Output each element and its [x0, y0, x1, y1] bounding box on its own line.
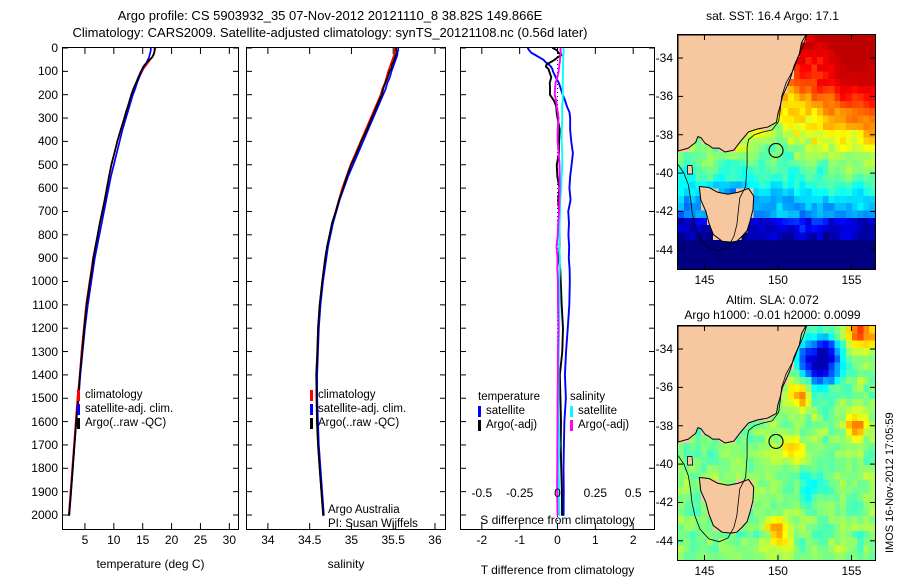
axis-tick-label: -34	[633, 51, 673, 65]
axis-tick-label: 1100	[18, 298, 58, 312]
axis-tick-label: 800	[18, 228, 58, 242]
legend-item-label: satellite	[578, 404, 617, 418]
temperature-legend: climatologysatellite-adj. clim.Argo(..ra…	[77, 388, 173, 430]
axis-tick-label: 5	[82, 533, 89, 547]
axis-tick-label: 25	[194, 533, 207, 547]
axis-tick-label: 15	[136, 533, 149, 547]
legend-item: satellite-adj. clim.	[77, 402, 173, 416]
sla-map-title-line2: Argo h1000: -0.01 h2000: 0.0099	[655, 308, 890, 323]
credit-line2: PI: Susan Wijffels	[328, 517, 418, 531]
sla-map-title-line1: Altim. SLA: 0.072	[660, 293, 885, 308]
legend-header: temperature	[478, 390, 540, 404]
legend-color-swatch	[77, 418, 80, 429]
axis-tick-label: -42	[633, 204, 673, 218]
legend-item-label: Argo(..raw -QC)	[85, 416, 166, 430]
axis-tick-label: -34	[633, 342, 673, 356]
axis-tick-label: 0	[18, 41, 58, 55]
axis-tick-label: -0.25	[506, 486, 533, 500]
legend-item-label: satellite-adj. clim.	[318, 402, 406, 416]
axis-tick-label: 600	[18, 181, 58, 195]
axis-tick-label: 1900	[18, 485, 58, 499]
axis-tick-label: 900	[18, 251, 58, 265]
salinity-plot-area	[247, 48, 445, 529]
axis-tick-label: -36	[633, 89, 673, 103]
credit-line1: Argo Australia	[328, 503, 400, 517]
legend-item: satellite-adj. clim.	[310, 402, 406, 416]
legend-header: salinity	[570, 390, 629, 404]
legend-color-swatch	[77, 390, 80, 401]
legend-item-label: satellite-adj. clim.	[85, 402, 173, 416]
legend-item-label: Argo(-adj)	[486, 418, 537, 432]
axis-tick-label: 35	[345, 533, 358, 547]
axis-tick-label: -44	[633, 534, 673, 548]
axis-tick-label: -0.5	[471, 486, 492, 500]
axis-tick-label: -36	[633, 380, 673, 394]
difference-salinity-legend: salinitysatelliteArgo(-adj)	[570, 390, 629, 432]
legend-color-swatch	[310, 404, 313, 415]
axis-tick-label: 1400	[18, 368, 58, 382]
axis-tick-label: 700	[18, 204, 58, 218]
axis-tick-label: 0	[554, 533, 561, 547]
legend-item: satellite	[478, 404, 540, 418]
legend-item: Argo(..raw -QC)	[310, 416, 406, 430]
temperature-difference-axis-label: T difference from climatology	[455, 563, 660, 577]
axis-tick-label: 0	[554, 486, 561, 500]
difference-profile-panel	[460, 47, 655, 530]
axis-tick-label: 20	[165, 533, 178, 547]
axis-tick-label: 2000	[18, 508, 58, 522]
legend-color-swatch	[77, 404, 80, 415]
axis-tick-label: -1	[514, 533, 525, 547]
legend-item: climatology	[77, 388, 173, 402]
axis-tick-label: 100	[18, 64, 58, 78]
axis-tick-label: 1700	[18, 438, 58, 452]
axis-tick-label: -42	[633, 495, 673, 509]
sst-map-image	[678, 35, 875, 269]
axis-tick-label: 150	[768, 273, 788, 287]
axis-tick-label: 1	[592, 533, 599, 547]
difference-temperature-legend: temperaturesatelliteArgo(-adj)	[478, 390, 540, 432]
axis-tick-label: 145	[694, 273, 714, 287]
axis-tick-label: 35.5	[382, 533, 405, 547]
axis-tick-label: 155	[841, 564, 861, 578]
axis-tick-label: 1200	[18, 321, 58, 335]
legend-color-swatch	[310, 418, 313, 429]
axis-tick-label: -38	[633, 128, 673, 142]
axis-tick-label: -38	[633, 419, 673, 433]
axis-tick-label: 1600	[18, 415, 58, 429]
page-title-line1: Argo profile: CS 5903932_35 07-Nov-2012 …	[0, 8, 660, 24]
legend-item-label: climatology	[318, 388, 376, 402]
axis-tick-label: 10	[107, 533, 120, 547]
axis-tick-label: 155	[841, 273, 861, 287]
axis-tick-label: 500	[18, 158, 58, 172]
page-title-line2: Climatology: CARS2009. Satellite-adjuste…	[0, 25, 660, 41]
salinity-difference-axis-label: S difference from climatology	[455, 513, 660, 527]
legend-item-label: climatology	[85, 388, 143, 402]
axis-tick-label: 150	[768, 564, 788, 578]
legend-item: Argo(..raw -QC)	[77, 416, 173, 430]
sla-map-image	[678, 326, 875, 560]
temperature-profile-panel	[62, 47, 239, 530]
legend-item-label: Argo(..raw -QC)	[318, 416, 399, 430]
axis-tick-label: 34	[261, 533, 274, 547]
salinity-profile-panel	[246, 47, 446, 530]
axis-tick-label: 200	[18, 88, 58, 102]
temperature-plot-area	[63, 48, 238, 529]
legend-item: Argo(-adj)	[570, 418, 629, 432]
legend-color-swatch	[478, 406, 481, 417]
legend-color-swatch	[310, 390, 313, 401]
axis-tick-label: -44	[633, 243, 673, 257]
legend-item-label: Argo(-adj)	[578, 418, 629, 432]
axis-tick-label: 1000	[18, 274, 58, 288]
axis-tick-label: 36	[428, 533, 441, 547]
axis-tick-label: 1300	[18, 345, 58, 359]
axis-tick-label: 1800	[18, 461, 58, 475]
sst-map-panel	[677, 34, 876, 270]
legend-item: Argo(-adj)	[478, 418, 540, 432]
legend-color-swatch	[570, 420, 573, 431]
axis-tick-label: 30	[223, 533, 236, 547]
temperature-axis-label: temperature (deg C)	[62, 557, 239, 571]
imos-timestamp: IMOS 16-Nov-2012 17:05:59	[884, 412, 896, 553]
axis-tick-label: -40	[633, 457, 673, 471]
axis-tick-label: -2	[476, 533, 487, 547]
sla-map-panel	[677, 325, 876, 561]
legend-item: satellite	[570, 404, 629, 418]
legend-item: climatology	[310, 388, 406, 402]
difference-plot-area	[461, 48, 654, 529]
legend-color-swatch	[478, 420, 481, 431]
axis-tick-label: 300	[18, 111, 58, 125]
sst-map-title: sat. SST: 16.4 Argo: 17.1	[660, 9, 885, 24]
axis-tick-label: 0.25	[584, 486, 607, 500]
axis-tick-label: 145	[694, 564, 714, 578]
salinity-axis-label: salinity	[246, 557, 446, 571]
axis-tick-label: 400	[18, 134, 58, 148]
legend-color-swatch	[570, 406, 573, 417]
axis-tick-label: -40	[633, 166, 673, 180]
axis-tick-label: 1500	[18, 391, 58, 405]
legend-item-label: satellite	[486, 404, 525, 418]
axis-tick-label: 34.5	[298, 533, 321, 547]
salinity-legend: climatologysatellite-adj. clim.Argo(..ra…	[310, 388, 406, 430]
